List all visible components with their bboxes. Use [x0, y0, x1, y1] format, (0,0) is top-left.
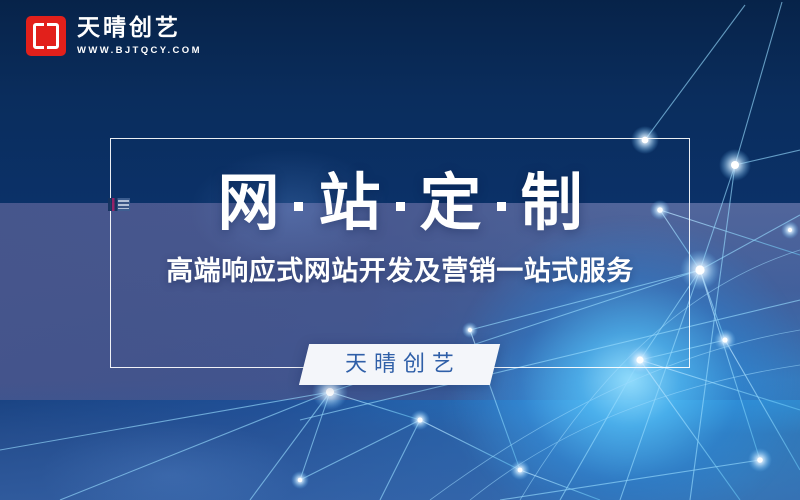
logo-text-block: 天晴创艺 WWW.BJTQCY.COM — [77, 17, 202, 56]
title-char: 站 — [316, 172, 382, 234]
pixel-artifact — [108, 198, 130, 211]
title-separator-dot — [294, 202, 303, 211]
page-title: 网 站 定 制 — [215, 172, 584, 234]
hero-banner: 天晴创艺 WWW.BJTQCY.COM 网 站 定 制 高端响应式网站开发及营销… — [0, 0, 800, 500]
title-separator-dot — [396, 202, 405, 211]
logo-website-url: WWW.BJTQCY.COM — [77, 46, 202, 56]
brand-logo[interactable]: 天晴创艺 WWW.BJTQCY.COM — [26, 16, 202, 56]
hero-content: 网 站 定 制 高端响应式网站开发及营销一站式服务 — [110, 138, 690, 368]
logo-company-name: 天晴创艺 — [77, 17, 202, 40]
title-char: 制 — [519, 172, 585, 234]
logo-mark-bar — [37, 36, 56, 39]
title-char: 网 — [215, 172, 281, 234]
tianqing-logo-mark-icon — [26, 16, 66, 56]
title-char: 定 — [418, 172, 484, 234]
title-separator-dot — [497, 202, 506, 211]
page-subtitle: 高端响应式网站开发及营销一站式服务 — [166, 258, 634, 285]
